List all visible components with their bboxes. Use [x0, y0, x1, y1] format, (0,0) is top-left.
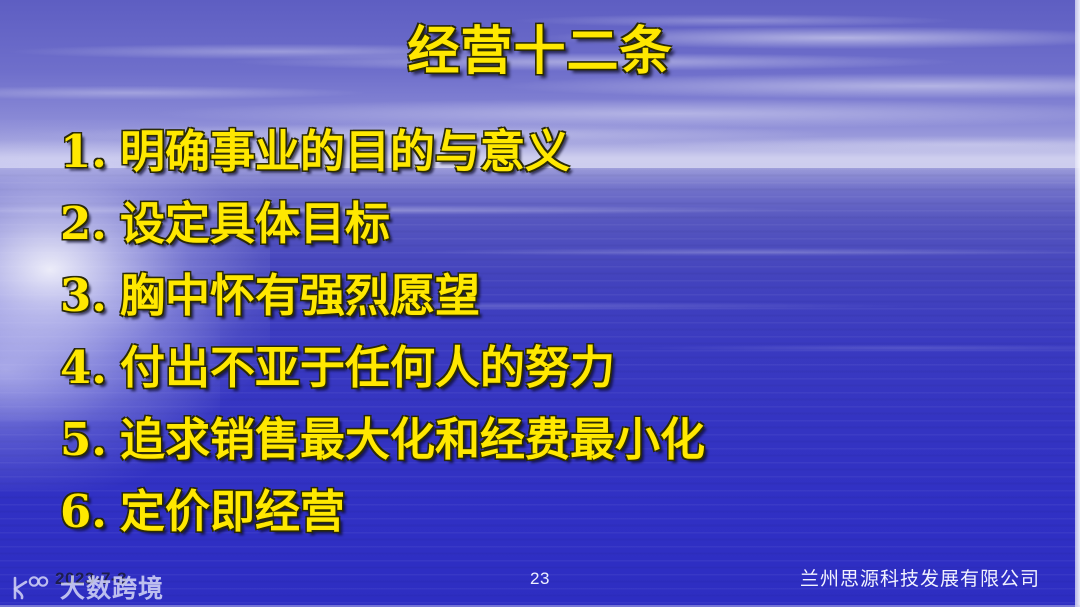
list-item: 1. 明确事业的目的与意义: [60, 116, 1060, 188]
footer-company-name: 兰州思源科技发展有限公司: [800, 564, 1040, 591]
list-item: 2. 设定具体目标: [60, 188, 1060, 260]
list-item-number: 5.: [60, 404, 114, 476]
watermark: 大数跨境: [8, 573, 164, 603]
bullet-list: 1. 明确事业的目的与意义 2. 设定具体目标 3. 胸中怀有强烈愿望 4. 付…: [60, 116, 1060, 548]
watermark-brand: 大数跨境: [60, 576, 164, 601]
list-item-label: 明确事业的目的与意义: [120, 116, 570, 188]
list-item: 5. 追求销售最大化和经费最小化: [60, 404, 1060, 476]
list-item-number: 2.: [60, 188, 114, 260]
list-item-label: 付出不亚于任何人的努力: [120, 332, 615, 404]
presentation-slide: 经营十二条 1. 明确事业的目的与意义 2. 设定具体目标 3. 胸中怀有强烈愿…: [0, 0, 1080, 607]
k-infinity-logo-icon: [8, 573, 54, 603]
list-item-number: 4.: [60, 332, 114, 404]
list-item-label: 胸中怀有强烈愿望: [120, 260, 480, 332]
slide-content: 经营十二条 1. 明确事业的目的与意义 2. 设定具体目标 3. 胸中怀有强烈愿…: [0, 0, 1080, 607]
list-item-number: 6.: [60, 476, 114, 548]
list-item-label: 追求销售最大化和经费最小化: [120, 404, 705, 476]
list-item-number: 3.: [60, 260, 114, 332]
list-item: 6. 定价即经营: [60, 476, 1060, 548]
slide-title: 经营十二条: [0, 26, 1080, 78]
list-item-label: 定价即经营: [120, 476, 345, 548]
list-item-number: 1.: [60, 116, 114, 188]
list-item: 4. 付出不亚于任何人的努力: [60, 332, 1060, 404]
list-item-label: 设定具体目标: [120, 188, 390, 260]
list-item: 3. 胸中怀有强烈愿望: [60, 260, 1060, 332]
